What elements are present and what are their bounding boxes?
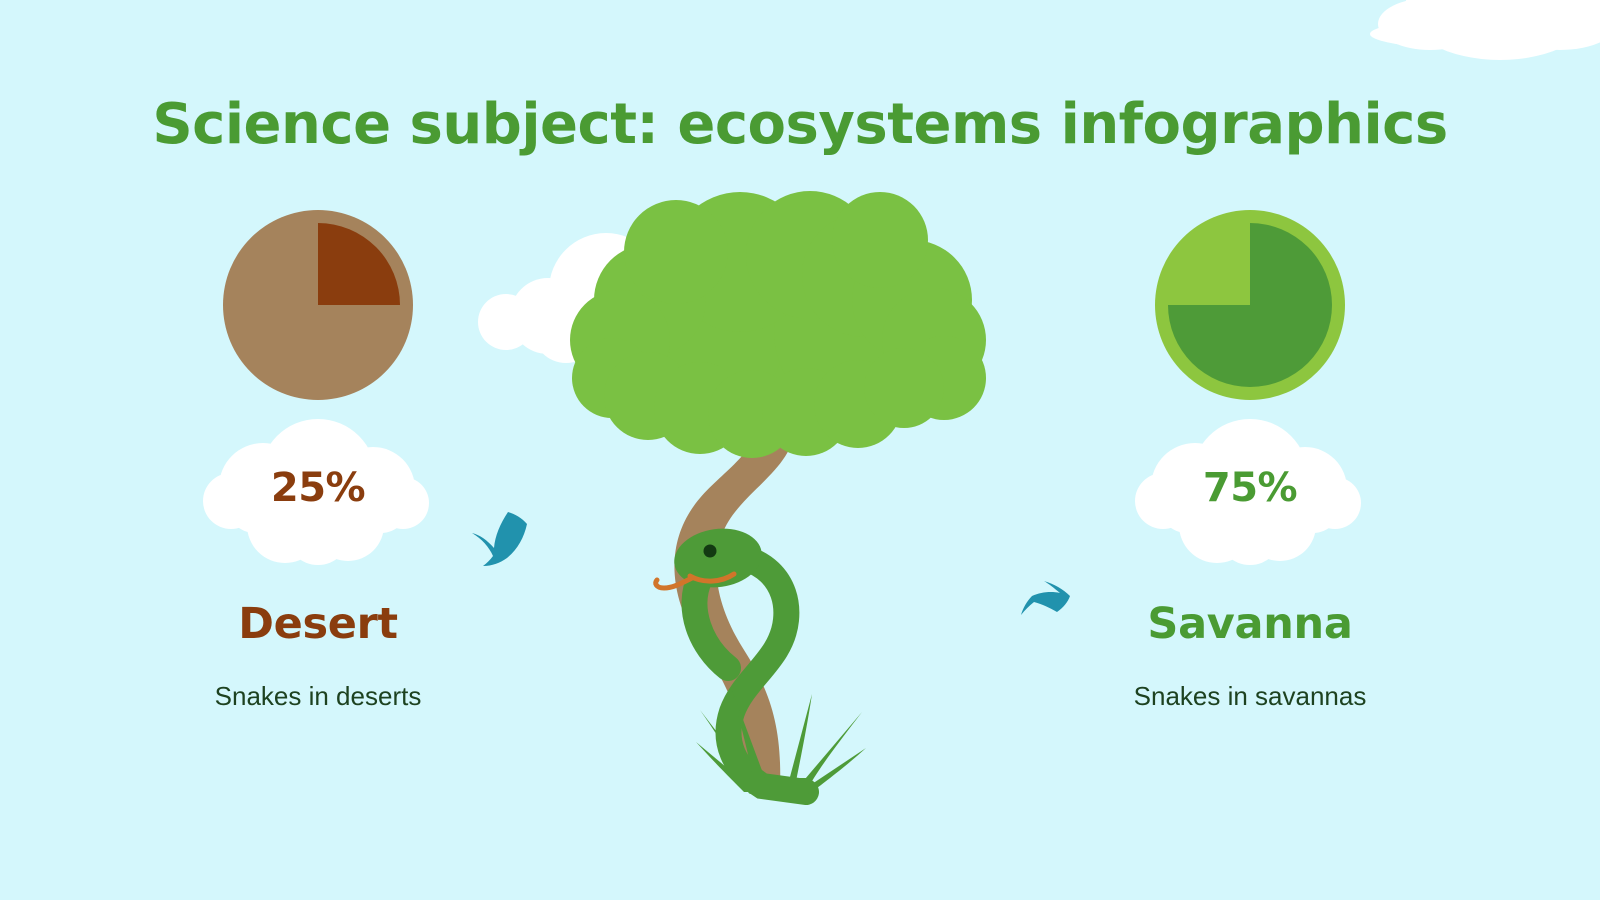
- percent-badge-desert: 25%: [108, 415, 528, 565]
- tree-canopy: [570, 191, 986, 458]
- pie-chart-icon: [1145, 200, 1355, 410]
- page-title: Science subject: ecosystems infographics: [0, 92, 1600, 157]
- snake-eye: [704, 545, 717, 558]
- ecosystem-description-savanna: Snakes in savannas: [1040, 683, 1460, 709]
- slide-canvas: Science subject: ecosystems infographics: [0, 0, 1600, 900]
- ecosystem-description-desert: Snakes in deserts: [108, 683, 528, 709]
- panel-desert: 25% Desert Snakes in deserts: [108, 200, 528, 717]
- pie-wedge-25: [318, 223, 400, 305]
- pie-chart-icon: [213, 200, 423, 410]
- percent-value-savanna: 75%: [1040, 465, 1460, 511]
- pie-chart-savanna: [1040, 200, 1460, 415]
- ecosystem-name-savanna: Savanna: [1040, 603, 1460, 646]
- tree-icon: [570, 191, 986, 790]
- pie-chart-desert: [108, 200, 528, 415]
- percent-value-desert: 25%: [108, 465, 528, 511]
- cloud-icon: [1370, 0, 1600, 60]
- panel-savanna: 75% Savanna Snakes in savannas: [1040, 200, 1460, 717]
- percent-badge-savanna: 75%: [1040, 415, 1460, 565]
- ecosystem-name-desert: Desert: [108, 603, 528, 646]
